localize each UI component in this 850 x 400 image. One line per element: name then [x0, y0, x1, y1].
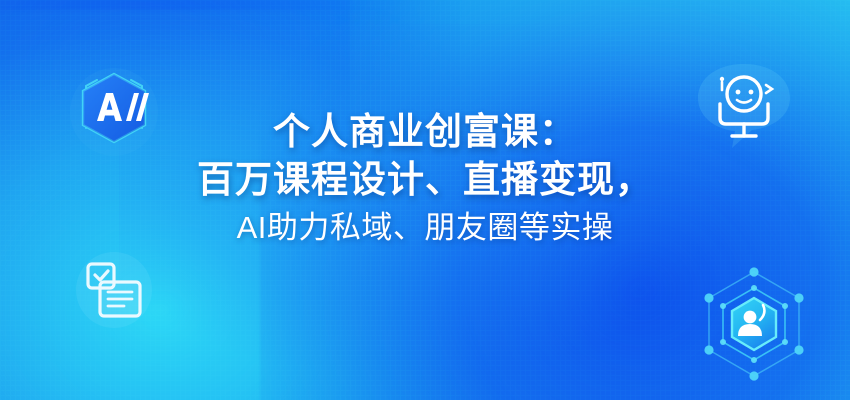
user-network-icon	[688, 258, 820, 390]
headline-line-1: 个人商业创富课：	[0, 108, 850, 155]
headline-line-3: AI助力私域、朋友圈等实操	[0, 205, 850, 251]
headline-block: 个人商业创富课： 百万课程设计、直播变现， AI助力私域、朋友圈等实操	[0, 108, 850, 251]
course-promo-banner: 个人商业创富课： 百万课程设计、直播变现， AI助力私域、朋友圈等实操	[0, 0, 850, 400]
document-checklist-icon	[62, 242, 166, 346]
headline-line-2: 百万课程设计、直播变现，	[0, 155, 850, 205]
